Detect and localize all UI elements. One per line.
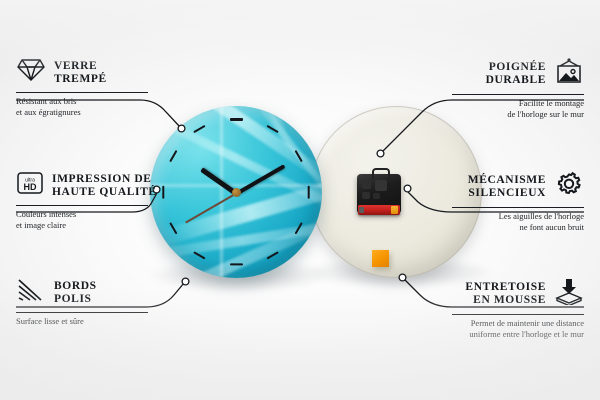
feature-title-line2: TREMPÉ (54, 73, 107, 86)
feature-title-line1: BORDS (54, 280, 97, 293)
feature-description: Facilite le montage de l'horloge sur le … (452, 98, 584, 119)
divider (452, 314, 584, 315)
divider (16, 312, 148, 313)
mechanism-knob (362, 192, 370, 199)
feature-title-line1: MÉCANISME (468, 174, 546, 187)
battery-negative-cap (359, 207, 364, 213)
arrow-down-onto-pad-icon (554, 277, 584, 310)
ultra-hd-icon: ultra HD (16, 170, 44, 201)
feature-description: Surface lisse et sûre (16, 316, 148, 327)
feature-description: Les aiguilles de l'horloge ne font aucun… (452, 211, 584, 232)
feature-description: Permet de maintenir une distance uniform… (452, 318, 584, 339)
mechanism-knob (373, 193, 380, 199)
hanging-picture-frame-icon (554, 57, 584, 90)
feature-title-line2: HAUTE QUALITÉ (52, 186, 157, 199)
mechanism-knob (362, 181, 371, 189)
gear-icon (554, 170, 584, 203)
feature-title-line1: VERRE (54, 60, 107, 73)
feature-mecanisme-silencieux[interactable]: MÉCANISME SILENCIEUX Les aiguilles de l'… (452, 170, 584, 232)
clock-front-view (150, 106, 322, 278)
mechanism-knob (375, 180, 387, 191)
foam-spacer (372, 250, 389, 267)
hour-marker (230, 263, 243, 265)
feature-entretoise-en-mousse[interactable]: ENTRETOISE EN MOUSSE Permet de maintenir… (452, 277, 584, 339)
hands-center-cap (232, 188, 241, 197)
mechanism-hanger (372, 168, 390, 179)
divider (16, 92, 148, 93)
feature-title-line1: IMPRESSION DE (52, 173, 157, 186)
feature-poignee-durable[interactable]: POIGNÉE DURABLE Facilite le montage de l… (452, 57, 584, 119)
divider (452, 207, 584, 208)
battery-positive-cap (391, 206, 398, 214)
hour-marker (307, 185, 309, 198)
diamond-icon (16, 57, 46, 88)
diagonal-lines-icon (16, 277, 46, 308)
feature-title-line2: SILENCIEUX (468, 187, 546, 200)
feature-bords-polis[interactable]: BORDS POLIS Surface lisse et sûre (16, 277, 148, 327)
feature-impression-haute-qualite[interactable]: ultra HD IMPRESSION DE HAUTE QUALITÉ Cou… (16, 170, 148, 230)
feature-description: Résistant aux bris et aux égratignures (16, 96, 148, 117)
feature-verre-trempe[interactable]: VERRE TREMPÉ Résistant aux bris et aux é… (16, 57, 148, 117)
feature-title-line1: POIGNÉE (486, 61, 546, 74)
divider (16, 205, 148, 206)
feature-description: Couleurs intenses et image claire (16, 209, 148, 230)
feature-title-line2: DURABLE (486, 74, 546, 87)
svg-text:HD: HD (24, 182, 37, 192)
infographic-canvas: VERRE TREMPÉ Résistant aux bris et aux é… (0, 0, 600, 400)
aa-battery (358, 205, 400, 215)
feature-title-line2: EN MOUSSE (465, 294, 546, 307)
feature-title-line2: POLIS (54, 293, 97, 306)
feature-title-line1: ENTRETOISE (465, 281, 546, 294)
divider (452, 94, 584, 95)
